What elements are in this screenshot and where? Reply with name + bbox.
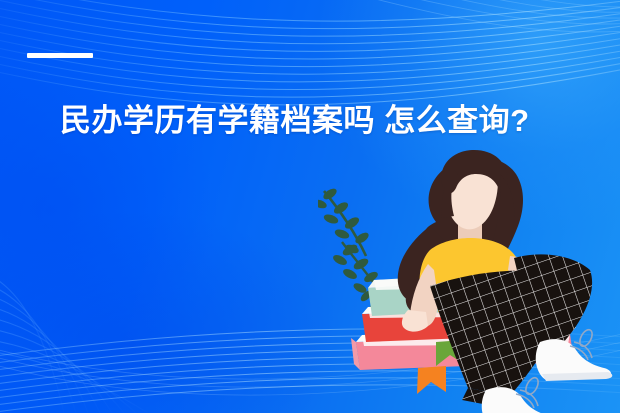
promo-banner: 民办学历有学籍档案吗 怎么查询? bbox=[0, 0, 620, 413]
page-title: 民办学历有学籍档案吗 怎么查询? bbox=[60, 101, 530, 141]
background-glow-bottom-left bbox=[0, 213, 340, 413]
hero-illustration bbox=[318, 146, 620, 413]
accent-rule bbox=[27, 53, 93, 58]
bookmark-orange bbox=[417, 366, 446, 394]
